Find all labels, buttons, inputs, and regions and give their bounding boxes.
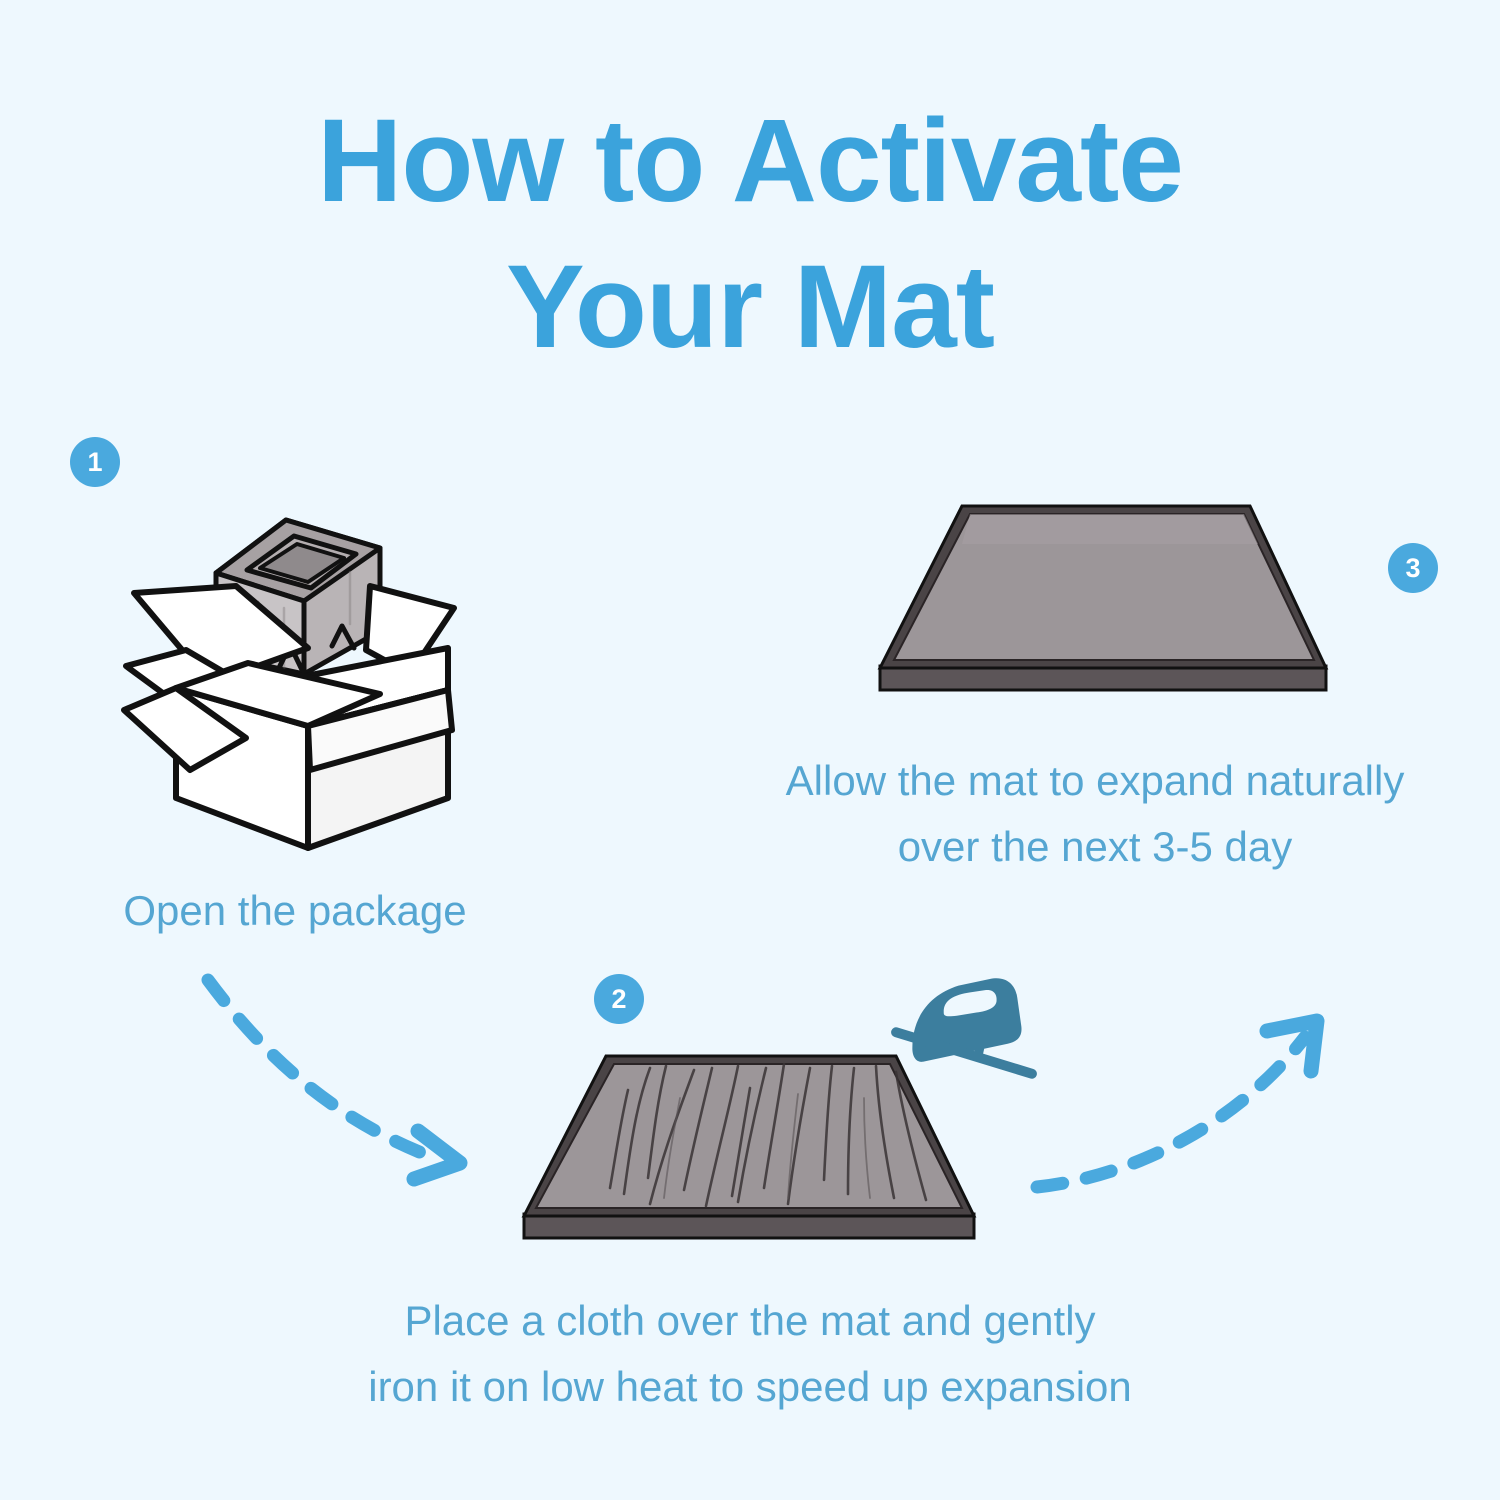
step-3-caption-line-1: Allow the mat to expand naturally xyxy=(690,748,1500,814)
step-1-caption-line-1: Open the package xyxy=(30,878,560,944)
title-line-1: How to Activate xyxy=(0,88,1500,234)
step-1-caption: Open the package xyxy=(30,878,560,944)
step-2-caption-line-1: Place a cloth over the mat and gently xyxy=(250,1288,1250,1354)
step-badge-2: 2 xyxy=(594,974,644,1024)
page-title: How to Activate Your Mat xyxy=(0,88,1500,380)
dashed-arrow-right-icon xyxy=(995,995,1365,1240)
flat-mat-icon xyxy=(858,478,1348,713)
step-badge-3: 3 xyxy=(1388,543,1438,593)
step-3-caption: Allow the mat to expand naturally over t… xyxy=(690,748,1500,880)
step-2-caption: Place a cloth over the mat and gently ir… xyxy=(250,1288,1250,1420)
dashed-arrow-left-icon xyxy=(160,955,530,1200)
step-2-caption-line-2: iron it on low heat to speed up expansio… xyxy=(250,1354,1250,1420)
step-3-caption-line-2: over the next 3-5 day xyxy=(690,814,1500,880)
open-box-icon xyxy=(118,498,486,850)
infographic-canvas: How to Activate Your Mat 1 2 3 xyxy=(0,0,1500,1500)
title-line-2: Your Mat xyxy=(0,234,1500,380)
step-badge-1: 1 xyxy=(70,437,120,487)
